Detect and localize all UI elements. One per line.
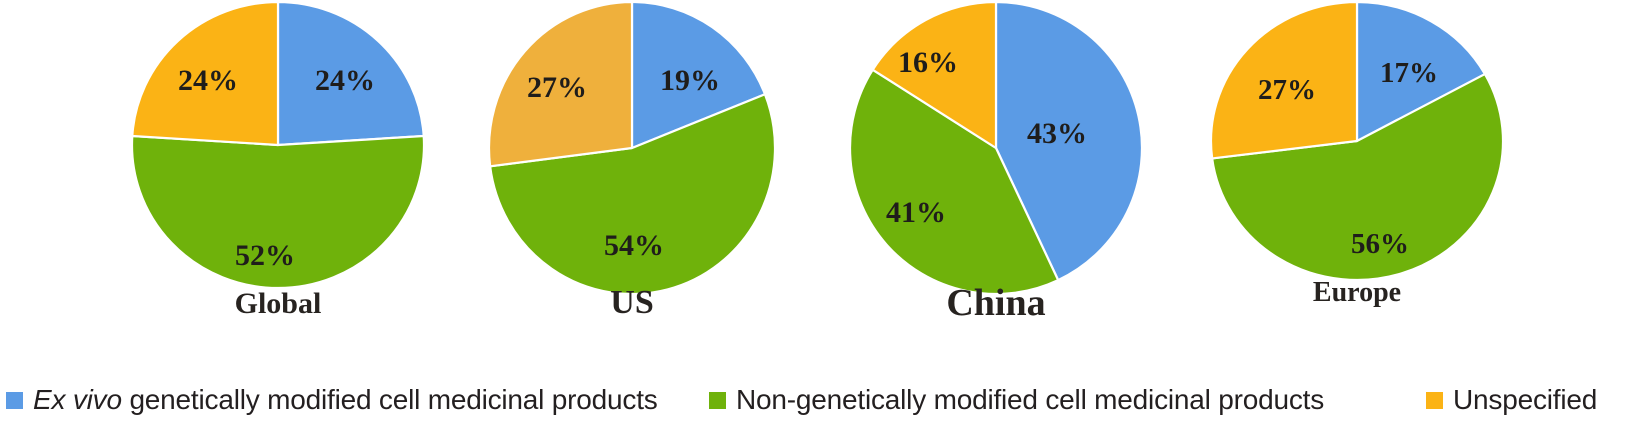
pie-chart-us: 19%54%27% US [487,0,777,340]
legend-label-non-genetic: Non-genetically modified cell medicinal … [736,384,1324,416]
pie-svg-global: 24%52%24% [130,0,426,290]
pie-slice-label-us-unspecified: 27% [527,71,587,104]
pie-chart-global: 24%52%24% Global [130,0,426,340]
pie-slice-label-china-ex-vivo: 43% [1027,117,1087,150]
pie-caption-us: US [487,284,777,322]
pie-slice-label-us-ex-vivo: 19% [660,64,720,97]
pie-slice-label-china-unspecified: 16% [898,46,958,79]
legend-swatch-unspecified [1426,392,1443,409]
legend-swatch-ex-vivo [6,392,23,409]
pie-svg-europe: 17%56%27% [1209,0,1505,282]
pie-slice-label-china-non-genetic: 41% [886,196,946,229]
legend-label-ex-vivo-italic: Ex vivo [33,384,122,415]
legend-item-non-genetic[interactable]: Non-genetically modified cell medicinal … [709,384,1324,416]
pie-slice-label-us-non-genetic: 54% [604,229,664,262]
pie-slice-label-europe-non-genetic: 56% [1351,228,1409,260]
legend-label-ex-vivo: Ex vivo genetically modified cell medici… [33,384,658,416]
pie-slice-label-europe-ex-vivo: 17% [1380,57,1438,89]
legend-item-unspecified[interactable]: Unspecified [1426,384,1597,416]
pie-chart-figure: 24%52%24% Global 19%54%27% US 43%41%16% … [0,0,1646,428]
pie-chart-china: 43%41%16% China [848,0,1144,340]
pie-chart-europe: 17%56%27% Europe [1209,0,1505,340]
legend-label-unspecified: Unspecified [1453,384,1597,416]
pie-caption-global: Global [130,287,426,321]
pie-svg-china: 43%41%16% [848,0,1144,296]
pie-slices-china [850,2,1142,294]
legend-swatch-non-genetic [709,392,726,409]
legend-item-ex-vivo[interactable]: Ex vivo genetically modified cell medici… [6,384,658,416]
chart-legend: Ex vivo genetically modified cell medici… [0,372,1646,428]
pie-slice-label-global-non-genetic: 52% [235,239,295,272]
pie-slice-label-global-ex-vivo: 24% [315,64,375,97]
legend-label-ex-vivo-rest: genetically modified cell medicinal prod… [122,384,658,415]
pie-slice-label-global-unspecified: 24% [178,64,238,97]
pie-svg-us: 19%54%27% [487,0,777,296]
pie-caption-europe: Europe [1209,277,1505,309]
pie-caption-china: China [848,281,1144,325]
pie-slice-label-europe-unspecified: 27% [1258,74,1316,106]
pie-charts-row: 24%52%24% Global 19%54%27% US 43%41%16% … [0,0,1646,340]
